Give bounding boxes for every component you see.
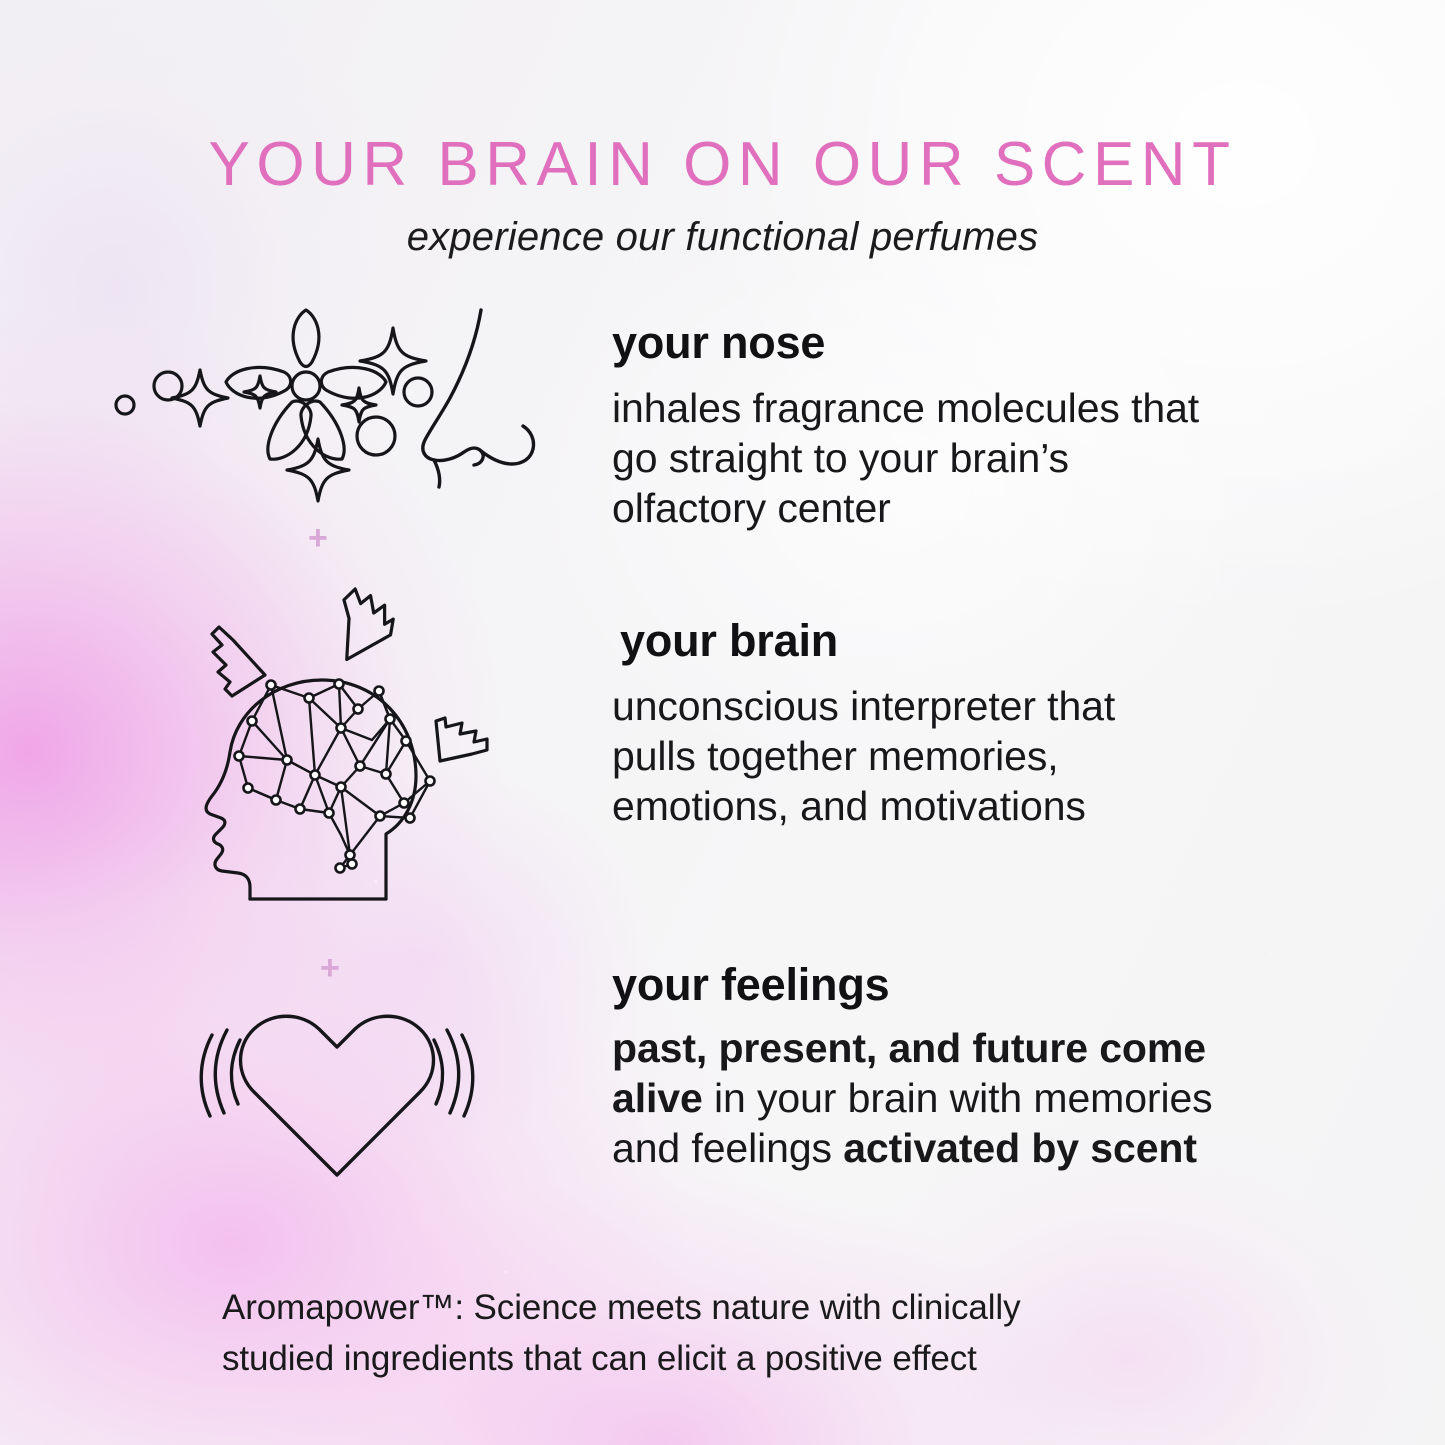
step-body-line: inhales fragrance molecules that bbox=[612, 383, 1352, 433]
infographic-canvas: YOUR BRAIN ON OUR SCENT experience our f… bbox=[0, 0, 1445, 1445]
nose-profile bbox=[423, 310, 534, 487]
footer-line: Aromapower™: Science meets nature with c… bbox=[222, 1283, 1282, 1334]
flower-center bbox=[292, 372, 320, 400]
step-title-nose: your nose bbox=[612, 320, 1352, 365]
step-body-bold: alive bbox=[612, 1075, 703, 1121]
lightning-bolts bbox=[212, 588, 487, 761]
step-body-line: past, present, and future come bbox=[612, 1023, 1372, 1073]
step-text-nose: your nose inhales fragrance molecules th… bbox=[612, 320, 1352, 533]
step-body-line: alive in your brain with memories bbox=[612, 1073, 1372, 1123]
footer-line: studied ingredients that can elicit a po… bbox=[222, 1334, 1282, 1385]
step-body-feelings: past, present, and future come alive in … bbox=[612, 1023, 1372, 1173]
head-brain-network-icon bbox=[190, 588, 500, 918]
step-body-bold: past, present, and future come bbox=[612, 1025, 1206, 1071]
step-body-bold: activated by scent bbox=[843, 1125, 1197, 1171]
plus-separator-1: + bbox=[308, 521, 328, 555]
step-body-nose: inhales fragrance molecules that go stra… bbox=[612, 383, 1352, 533]
heart-outline bbox=[241, 1016, 434, 1175]
step-title-feelings: your feelings bbox=[612, 962, 1372, 1007]
step-body-brain: unconscious interpreter that pulls toget… bbox=[612, 681, 1312, 831]
step-text-brain: your brain unconscious interpreter that … bbox=[612, 618, 1312, 831]
step-body-line: go straight to your brain’s bbox=[612, 433, 1352, 483]
step-body-line: emotions, and motivations bbox=[612, 781, 1312, 831]
step-body-regular: in your brain with memories bbox=[703, 1075, 1213, 1121]
sparkle-star-large-right bbox=[360, 328, 426, 394]
page-title: YOUR BRAIN ON OUR SCENT bbox=[0, 129, 1445, 200]
flower-petals bbox=[226, 310, 386, 459]
plus-separator-2: + bbox=[320, 951, 340, 985]
heart-vibration-right bbox=[434, 1030, 473, 1116]
sparkle-circle-small-1 bbox=[116, 396, 134, 414]
vibrating-heart-icon bbox=[192, 1000, 482, 1180]
brain-network bbox=[235, 680, 435, 873]
step-text-feelings: your feelings past, present, and future … bbox=[612, 962, 1372, 1173]
sparkle-circle-small-3 bbox=[404, 378, 432, 406]
step-body-line: olfactory center bbox=[612, 483, 1352, 533]
flower-sparkles-nose-icon bbox=[108, 306, 568, 506]
footer-disclaimer: Aromapower™: Science meets nature with c… bbox=[222, 1283, 1282, 1385]
heart-vibration-left bbox=[201, 1030, 240, 1116]
step-title-brain: your brain bbox=[620, 618, 1312, 663]
sparkle-circle-small-4 bbox=[357, 417, 395, 455]
sparkle-star-small-left bbox=[244, 376, 276, 408]
page-subtitle: experience our functional perfumes bbox=[0, 215, 1445, 260]
step-body-line: unconscious interpreter that bbox=[612, 681, 1312, 731]
step-body-regular: and feelings bbox=[612, 1125, 843, 1171]
step-body-line: and feelings activated by scent bbox=[612, 1123, 1372, 1173]
step-body-line: pulls together memories, bbox=[612, 731, 1312, 781]
